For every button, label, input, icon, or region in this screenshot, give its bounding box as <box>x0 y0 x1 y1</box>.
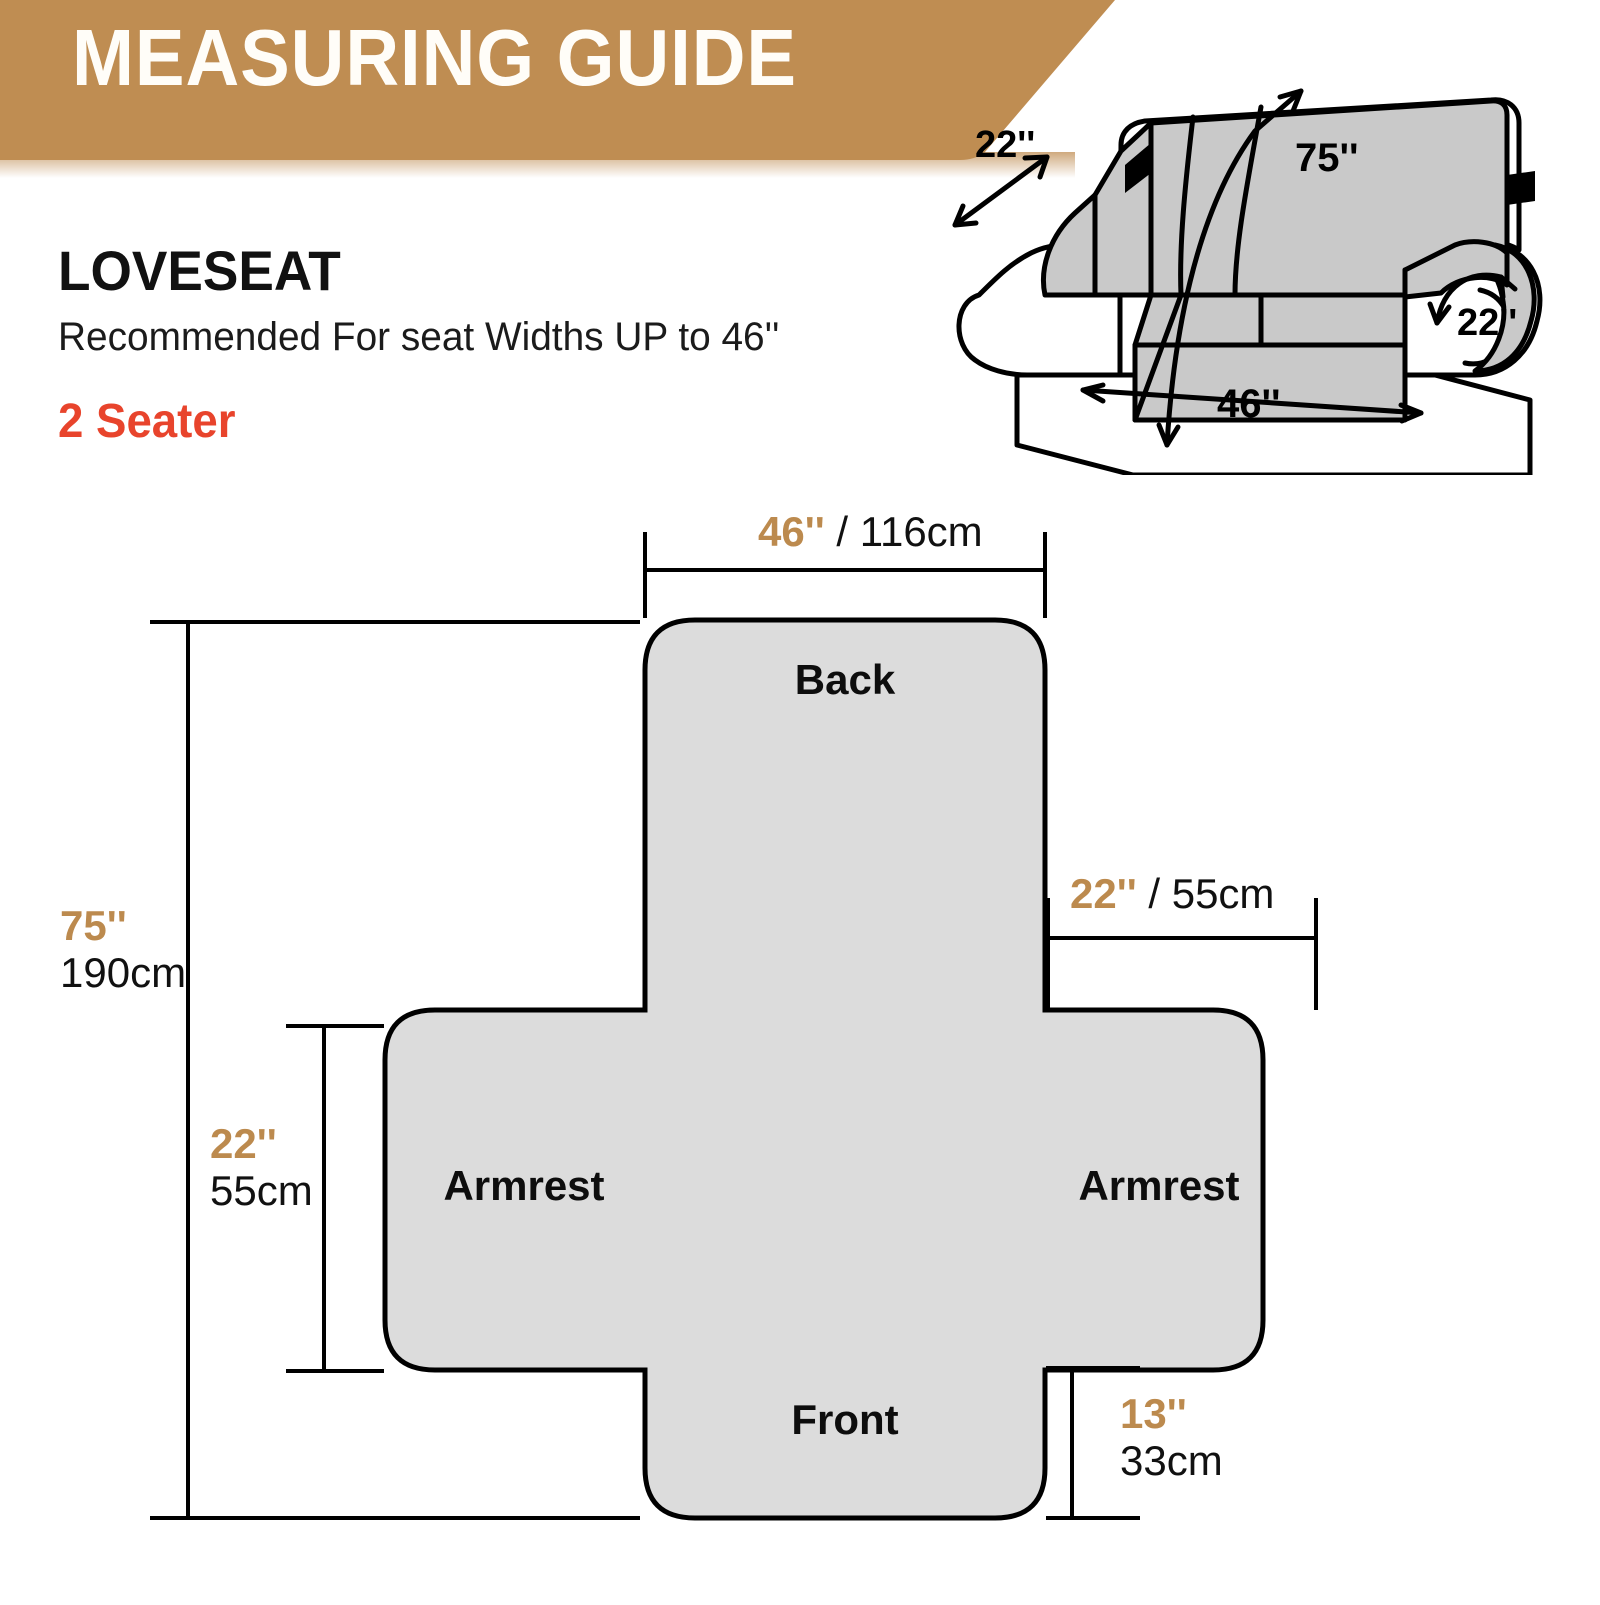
dim-value-75-in: 75'' <box>60 902 186 949</box>
sofa-dim-22-arm-label: 22'' <box>1457 302 1517 344</box>
dim-value-22-left-in: 22'' <box>210 1120 313 1167</box>
dim-value-116-cm: / 116cm <box>836 508 982 555</box>
cover-layout-diagram: Back Front Armrest Armrest 46'' / 116cm … <box>0 470 1600 1600</box>
panel-label-front: Front <box>791 1396 898 1444</box>
dim-label-width-top: 46'' / 116cm <box>758 508 983 556</box>
dim-value-33-cm: 33cm <box>1120 1437 1223 1484</box>
dim-value-55-left-cm: 55cm <box>210 1167 313 1214</box>
slipcover-left-arm-front <box>1043 195 1095 295</box>
product-title: LOVESEAT <box>58 242 765 301</box>
dim-label-armrest-right: 22'' / 55cm <box>1070 870 1274 918</box>
tuck-strip-right <box>1507 171 1535 205</box>
panel-label-armrest-right: Armrest <box>1078 1162 1239 1210</box>
panel-label-armrest-left: Armrest <box>443 1162 604 1210</box>
loveseat-drawing-svg: 75'' 22'' 22'' 46'' <box>935 45 1585 475</box>
seater-badge: 2 Seater <box>58 394 765 449</box>
dim-value-46-in: 46'' <box>758 508 825 555</box>
panel-label-back: Back <box>795 656 895 704</box>
slipcover-seat <box>1135 295 1405 345</box>
product-subtitle: Recommended For seat Widths UP to 46'' <box>58 315 779 360</box>
dim-value-190-cm: 190cm <box>60 949 186 996</box>
banner-shadow <box>0 152 1075 178</box>
dim-label-height-left: 75'' 190cm <box>60 902 186 996</box>
dim-value-13-in: 13'' <box>1120 1390 1223 1437</box>
slipcover-left-arm-panel <box>1095 123 1151 295</box>
loveseat-illustration: 75'' 22'' 22'' 46'' <box>935 45 1585 475</box>
cover-cross-shape <box>385 620 1263 1518</box>
heading-block: LOVESEAT Recommended For seat Widths UP … <box>58 242 802 449</box>
measuring-guide-page: MEASURING GUIDE LOVESEAT Recommended For… <box>0 0 1600 1600</box>
banner-title: MEASURING GUIDE <box>72 12 797 104</box>
dim-label-armrest-depth-left: 22'' 55cm <box>210 1120 313 1214</box>
sofa-dim-46-label: 46'' <box>1217 382 1281 426</box>
dim-arrow-22-depth-line <box>955 157 1047 225</box>
dim-value-55-right-cm: / 55cm <box>1148 870 1274 917</box>
sofa-dim-75-label: 75'' <box>1295 136 1359 180</box>
sofa-dim-22-depth-label: 22'' <box>975 124 1035 166</box>
dim-value-22-right-in: 22'' <box>1070 870 1137 917</box>
dim-label-skirt: 13'' 33cm <box>1120 1390 1223 1484</box>
